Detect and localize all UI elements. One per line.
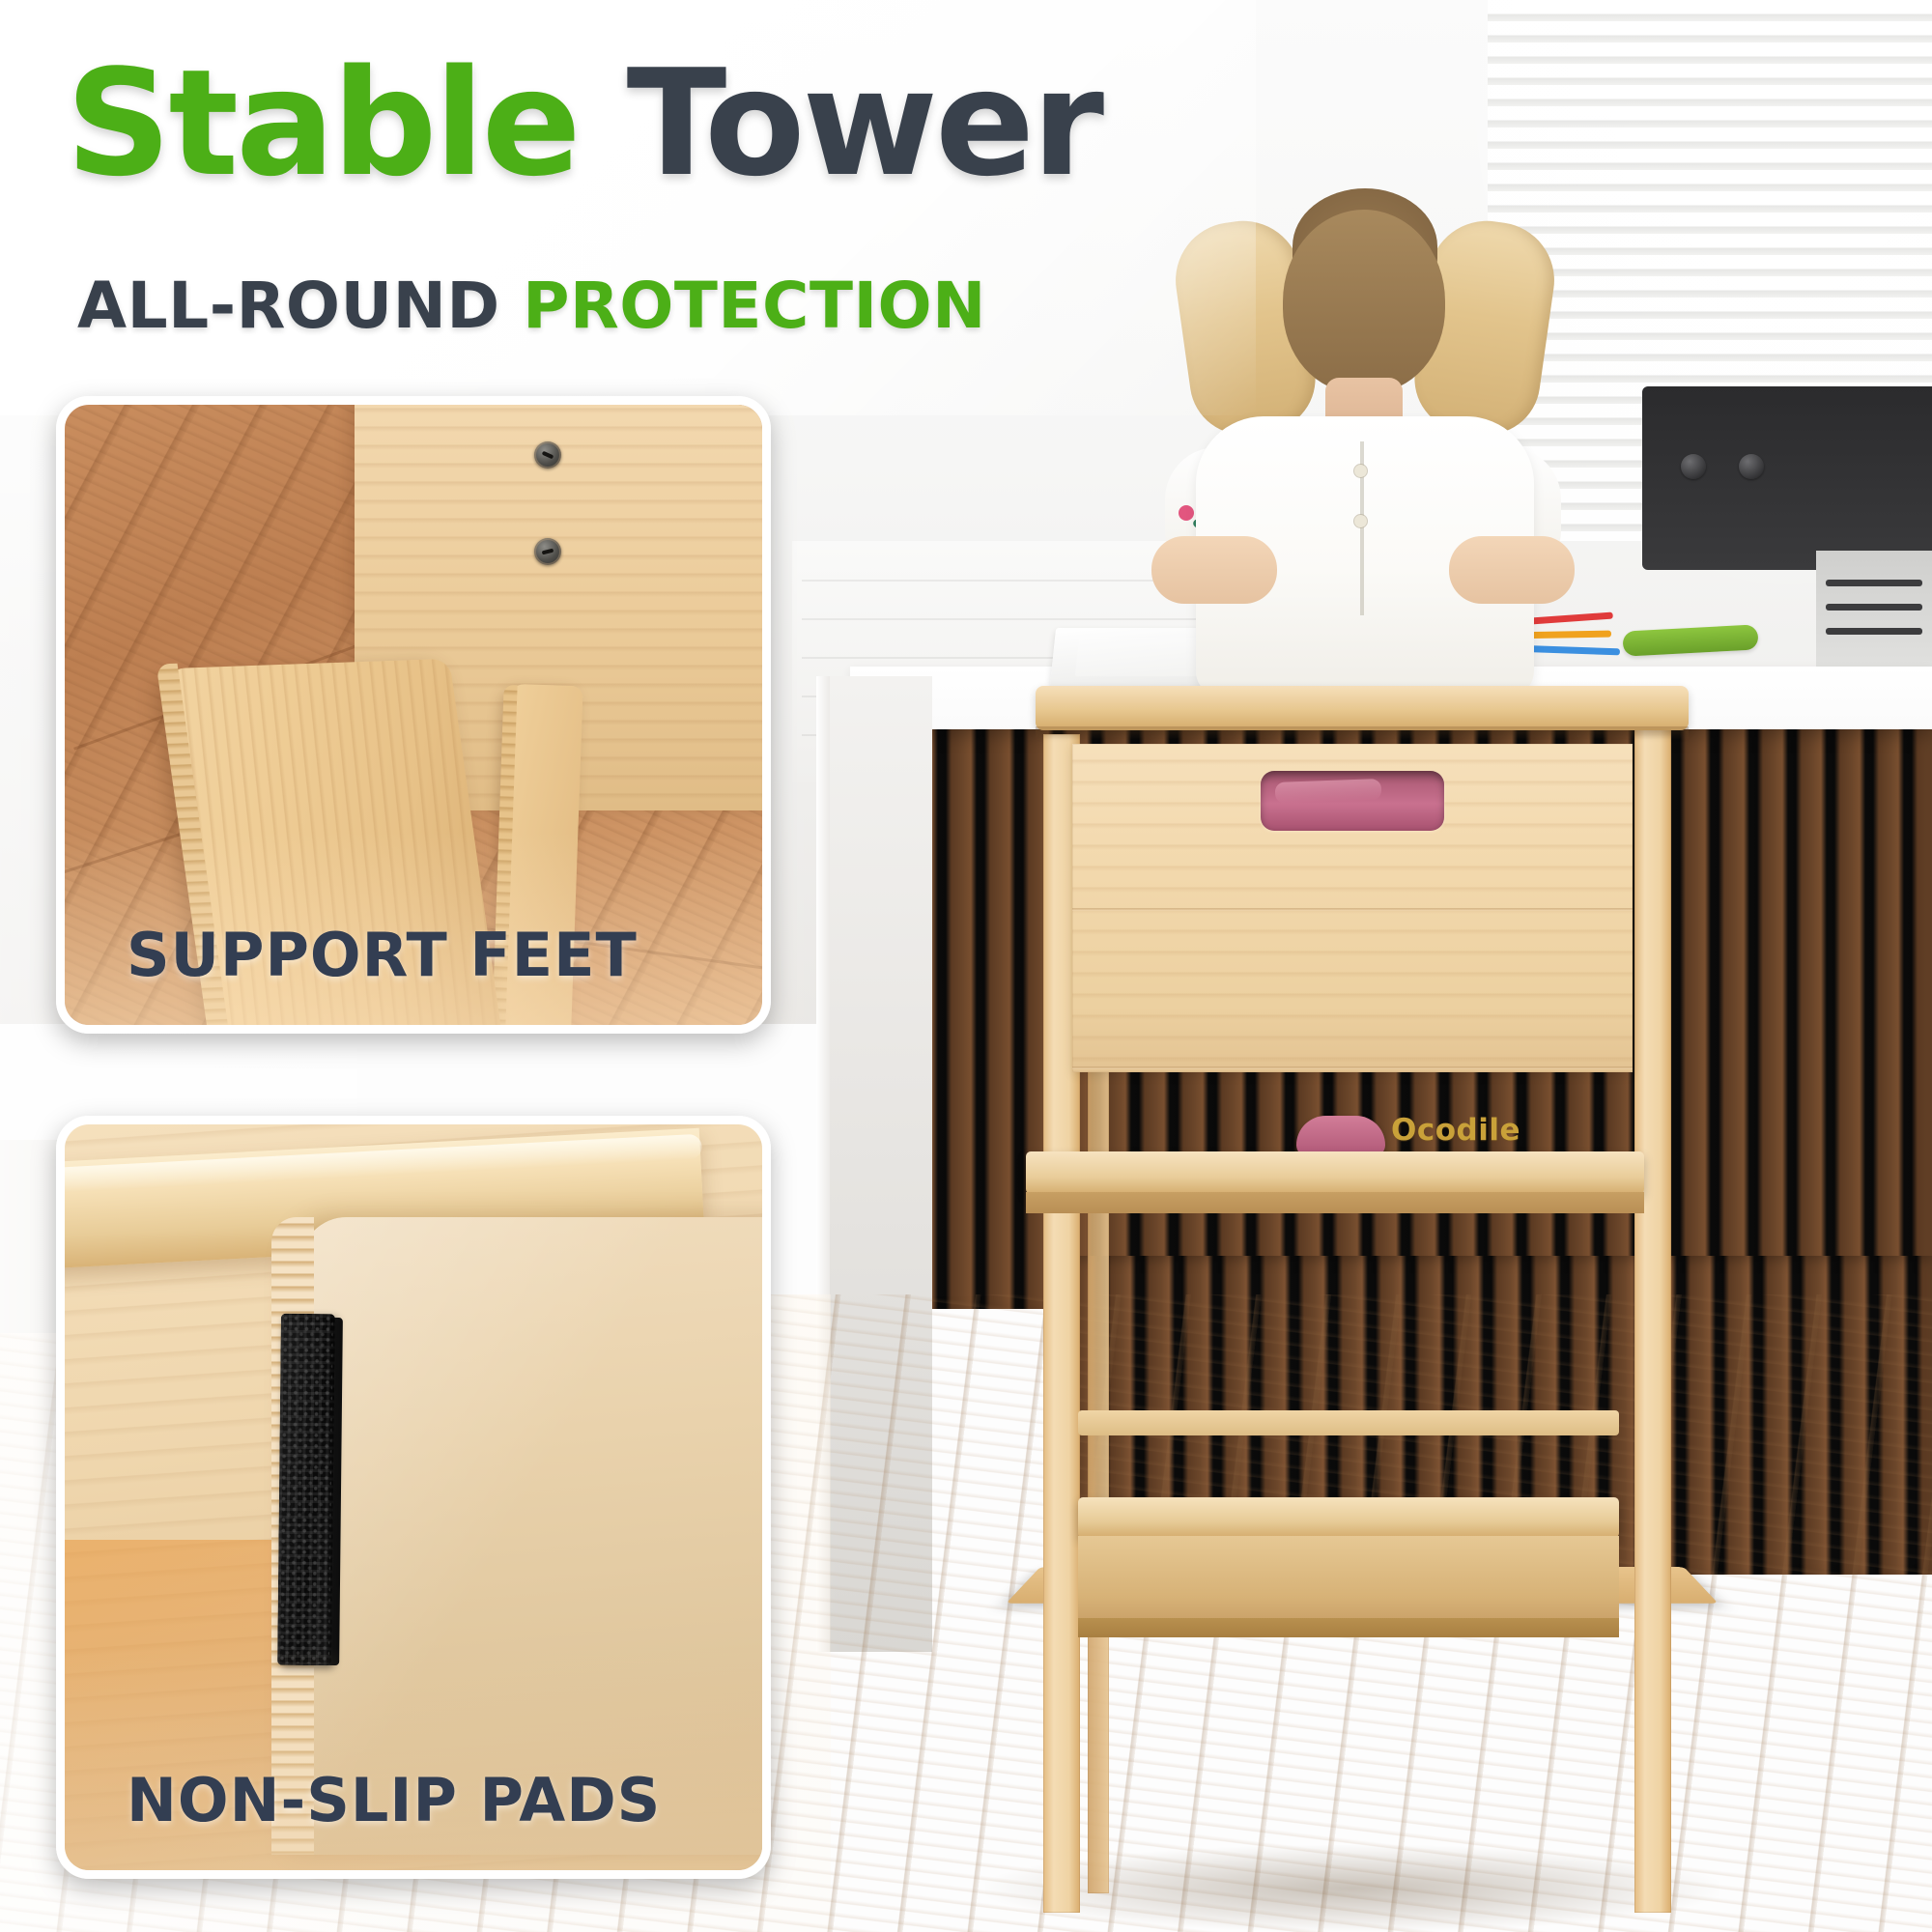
hob-grate bbox=[1826, 604, 1922, 611]
title-word-stable: Stable bbox=[66, 38, 579, 209]
tower-lower-step bbox=[1078, 1497, 1619, 1538]
learning-tower-product: Ocodile bbox=[1043, 676, 1681, 1932]
stove-hob bbox=[1816, 551, 1932, 686]
child-arm-left bbox=[1151, 536, 1277, 604]
screw-icon bbox=[534, 441, 561, 469]
title-space bbox=[579, 38, 627, 209]
step-front-face bbox=[1078, 1536, 1619, 1623]
tower-rail-shadow bbox=[1036, 726, 1689, 740]
screw-icon bbox=[534, 538, 561, 565]
blouse-button bbox=[1354, 515, 1367, 527]
feature-card-non-slip-pads[interactable]: NON-SLIP PADS bbox=[56, 1116, 771, 1879]
feature-card-support-feet[interactable]: SUPPORT FEET bbox=[56, 396, 771, 1034]
infographic-canvas: Ocodile Stable Tower ALL-ROUND PROTECTIO… bbox=[0, 0, 1932, 1932]
panel-seam bbox=[1072, 908, 1633, 911]
kitchen-appliance bbox=[1642, 386, 1932, 570]
appliance-knob bbox=[1739, 454, 1764, 479]
child-arm-right bbox=[1449, 536, 1575, 604]
card-label-non-slip-pads: NON-SLIP PADS bbox=[127, 1765, 661, 1835]
title-word-tower: Tower bbox=[627, 38, 1101, 209]
cushion-highlight bbox=[1275, 779, 1382, 804]
page-subtitle: ALL-ROUND PROTECTION bbox=[77, 269, 986, 343]
subtitle-word-protection: PROTECTION bbox=[523, 269, 986, 343]
child-head bbox=[1283, 210, 1445, 393]
subtitle-space bbox=[500, 269, 523, 343]
hob-grate bbox=[1826, 580, 1922, 586]
non-slip-pad-texture bbox=[279, 1316, 333, 1664]
tower-post-right bbox=[1634, 696, 1671, 1913]
tower-cross-brace bbox=[1078, 1410, 1619, 1435]
child-sock-foot bbox=[1296, 1116, 1385, 1156]
brand-logo: Ocodile bbox=[1391, 1113, 1520, 1148]
step-riser bbox=[1078, 1618, 1619, 1637]
hob-grate bbox=[1826, 628, 1922, 635]
tower-top-rail bbox=[1036, 686, 1689, 730]
appliance-knob bbox=[1681, 454, 1706, 479]
page-title: Stable Tower bbox=[66, 50, 1101, 197]
card-label-support-feet: SUPPORT FEET bbox=[127, 920, 638, 990]
card2-label-scrim bbox=[65, 1648, 762, 1870]
tower-standing-platform bbox=[1026, 1151, 1644, 1194]
platform-front-edge bbox=[1026, 1192, 1644, 1213]
subtitle-word-allround: ALL-ROUND bbox=[77, 269, 500, 343]
panel-seam bbox=[1072, 1066, 1633, 1069]
blouse-button bbox=[1354, 465, 1367, 477]
